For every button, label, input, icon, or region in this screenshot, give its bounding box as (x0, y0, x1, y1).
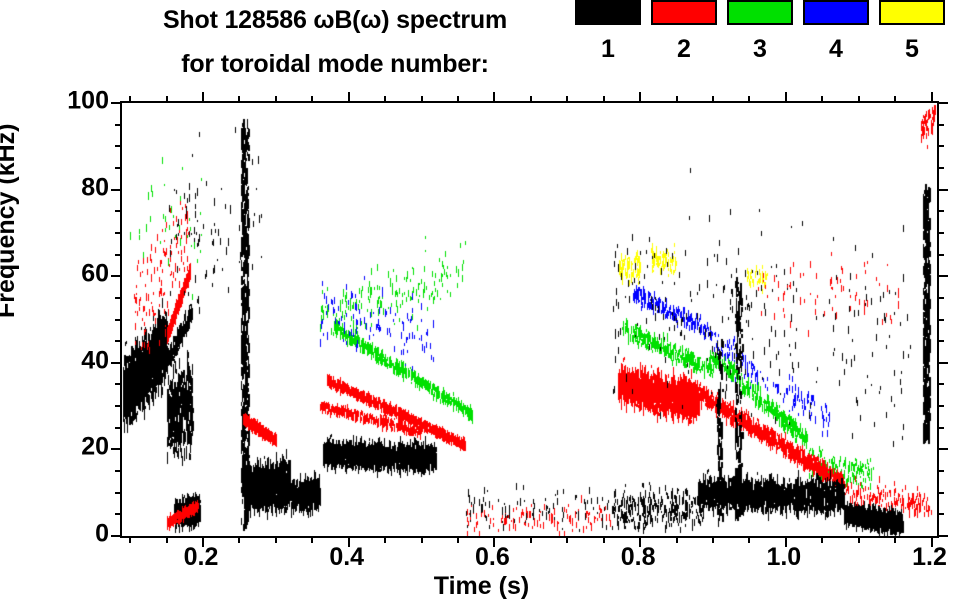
y-tick-minor (115, 492, 122, 494)
y-tick-minor (115, 297, 122, 299)
y-tick-minor (937, 513, 944, 515)
x-tick-minor (530, 96, 532, 103)
x-tick-minor (748, 96, 750, 103)
x-tick-minor (166, 96, 168, 103)
y-tick-label-60: 60 (81, 260, 109, 289)
page-title-line-2: for toroidal mode number: (110, 52, 560, 77)
x-tick-major (202, 92, 204, 103)
y-axis-title: Frequency (kHz) (0, 124, 21, 318)
y-tick-minor (937, 470, 944, 472)
y-tick-label-80: 80 (81, 173, 109, 202)
y-tick-label-20: 20 (81, 433, 109, 462)
legend-item-5: 5 (879, 0, 945, 62)
y-tick-major (111, 448, 122, 450)
y-tick-major (111, 189, 122, 191)
plot-frame (120, 101, 939, 538)
x-tick-minor (384, 96, 386, 103)
x-tick-minor (275, 96, 277, 103)
spectrogram-canvas (122, 103, 937, 536)
legend-label-1: 1 (575, 37, 641, 62)
y-tick-minor (115, 513, 122, 515)
legend-item-1: 1 (575, 0, 641, 62)
x-tick-major (639, 92, 641, 103)
y-tick-minor (115, 340, 122, 342)
x-tick-minor (129, 96, 131, 103)
y-tick-minor (937, 254, 944, 256)
x-tick-major (931, 92, 933, 103)
title-text-1: Shot 128586 ωB(ω) spectrum (163, 6, 507, 34)
y-tick-major (111, 362, 122, 364)
x-tick-label-0.2: 0.2 (184, 543, 219, 572)
y-tick-major (937, 102, 948, 104)
y-tick-minor (115, 319, 122, 321)
legend: 12345 (575, 0, 960, 92)
y-tick-major (937, 535, 948, 537)
y-tick-minor (115, 254, 122, 256)
y-tick-minor (937, 492, 944, 494)
y-tick-label-0: 0 (95, 520, 109, 549)
x-tick-major (348, 92, 350, 103)
legend-label-2: 2 (651, 37, 717, 62)
y-tick-minor (115, 470, 122, 472)
legend-item-2: 2 (651, 0, 717, 62)
legend-swatch-1 (575, 0, 641, 25)
legend-swatch-2 (651, 0, 717, 25)
x-tick-minor (712, 96, 714, 103)
legend-swatch-4 (803, 0, 869, 25)
legend-label-5: 5 (879, 37, 945, 62)
y-tick-minor (937, 405, 944, 407)
y-tick-minor (115, 145, 122, 147)
x-tick-label-1.2: 1.2 (912, 543, 947, 572)
y-tick-minor (937, 145, 944, 147)
y-tick-major (111, 275, 122, 277)
legend-swatch-5 (879, 0, 945, 25)
y-tick-minor (937, 210, 944, 212)
x-tick-major (493, 92, 495, 103)
y-tick-minor (937, 340, 944, 342)
y-tick-major (937, 189, 948, 191)
page-title-line-1: Shot 128586 ωB(ω) spectrum (110, 8, 560, 33)
spectrogram-figure: Shot 128586 ωB(ω) spectrum for toroidal … (0, 0, 963, 615)
legend-item-4: 4 (803, 0, 869, 62)
legend-item-3: 3 (727, 0, 793, 62)
y-tick-minor (115, 427, 122, 429)
x-tick-minor (858, 96, 860, 103)
title-text-2: for toroidal mode number: (181, 50, 489, 78)
y-tick-minor (937, 297, 944, 299)
x-axis-title: Time (s) (0, 572, 963, 601)
x-tick-minor (603, 96, 605, 103)
x-tick-minor (238, 96, 240, 103)
x-tick-major (785, 92, 787, 103)
y-tick-minor (115, 383, 122, 385)
y-tick-minor (115, 124, 122, 126)
y-tick-minor (115, 232, 122, 234)
y-tick-minor (937, 167, 944, 169)
y-tick-major (937, 448, 948, 450)
y-tick-minor (115, 167, 122, 169)
legend-swatch-3 (727, 0, 793, 25)
x-tick-label-0.6: 0.6 (475, 543, 510, 572)
x-axis-tick-labels: 0.20.40.60.81.01.2 (120, 537, 935, 571)
y-tick-major (111, 102, 122, 104)
x-tick-minor (894, 96, 896, 103)
x-tick-label-0.4: 0.4 (329, 543, 364, 572)
y-tick-minor (937, 427, 944, 429)
y-tick-major (937, 362, 948, 364)
y-tick-major (937, 275, 948, 277)
y-tick-minor (115, 210, 122, 212)
x-tick-label-0.8: 0.8 (621, 543, 656, 572)
x-tick-minor (457, 96, 459, 103)
x-tick-minor (676, 96, 678, 103)
y-tick-label-40: 40 (81, 346, 109, 375)
y-tick-minor (937, 319, 944, 321)
y-tick-minor (115, 405, 122, 407)
x-tick-minor (821, 96, 823, 103)
y-tick-minor (937, 232, 944, 234)
y-tick-minor (937, 124, 944, 126)
y-tick-minor (937, 383, 944, 385)
legend-label-4: 4 (803, 37, 869, 62)
x-tick-minor (311, 96, 313, 103)
x-tick-minor (566, 96, 568, 103)
x-tick-label-1.0: 1.0 (766, 543, 801, 572)
y-tick-label-100: 100 (67, 87, 109, 116)
legend-label-3: 3 (727, 37, 793, 62)
x-tick-minor (421, 96, 423, 103)
